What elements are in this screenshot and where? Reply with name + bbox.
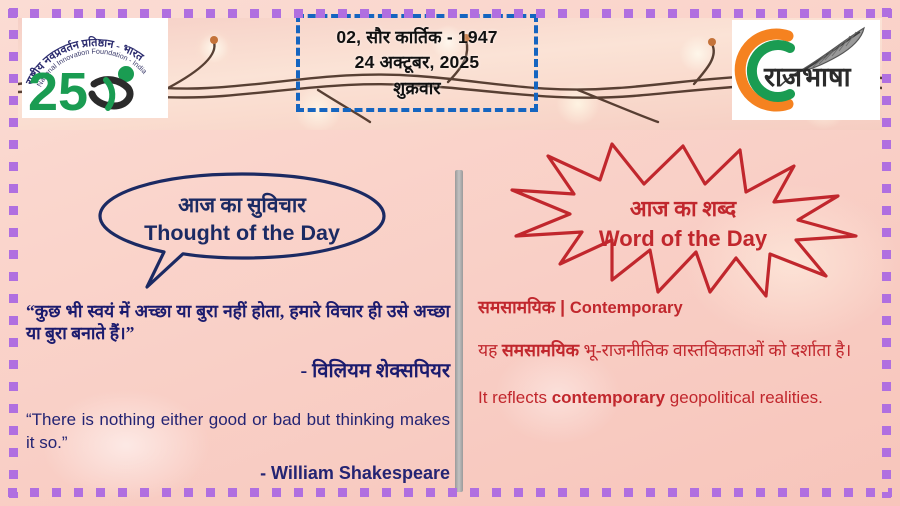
word-hindi: समसामयिक	[478, 297, 555, 317]
quote-author-hindi: - विलियम शेक्सपियर	[26, 356, 450, 383]
date-line-saka: 02, सौर कार्तिक - 1947	[336, 26, 497, 50]
star-title-english: Word of the Day	[599, 226, 768, 251]
thought-of-the-day-body: “कुछ भी स्वयं में अच्छा या बुरा नहीं होत…	[26, 300, 450, 484]
sentence-english: It reflects contemporary geopolitical re…	[478, 386, 870, 409]
star-title-hindi: आज का शब्द	[630, 196, 738, 221]
frame-left-dots	[9, 8, 18, 498]
word-of-the-day-starburst: आज का शब्द Word of the Day	[508, 140, 858, 300]
word-of-the-day-body: समसामयिक | Contemporary यह समसामयिक भू-र…	[478, 296, 870, 410]
word-headline: समसामयिक | Contemporary	[478, 296, 870, 319]
sentence-english-pre: It reflects	[478, 388, 552, 407]
quote-english: “There is nothing either good or bad but…	[26, 409, 450, 455]
sentence-hindi-bold: समसामयिक	[502, 340, 579, 360]
bubble-title-hindi: आज का सुविचार	[178, 192, 307, 219]
sentence-english-bold: contemporary	[552, 388, 665, 407]
sentence-hindi-pre: यह	[478, 340, 502, 360]
svg-text:25: 25	[28, 62, 88, 118]
frame-bottom-dots	[8, 488, 892, 497]
word-english: Contemporary	[570, 299, 683, 317]
date-box: 02, सौर कार्तिक - 1947 24 अक्टूबर, 2025 …	[296, 14, 538, 112]
sentence-hindi: यह समसामयिक भू-राजनीतिक वास्तविकताओं को …	[478, 339, 870, 362]
frame-right-dots	[882, 8, 891, 498]
sentence-hindi-post: भू-राजनीतिक वास्तविकताओं को दर्शाता है।	[579, 340, 851, 360]
quote-hindi: “कुछ भी स्वयं में अच्छा या बुरा नहीं होत…	[26, 300, 450, 345]
thought-of-the-day-bubble: आज का सुविचार Thought of the Day	[92, 168, 392, 296]
column-divider	[455, 170, 463, 492]
bubble-title-english: Thought of the Day	[144, 221, 340, 245]
word-separator: |	[555, 297, 570, 317]
rajbhasha-logo: राजभाषा	[732, 20, 880, 120]
national-innovation-foundation-logo: राष्ट्रीय नवप्रवर्तन प्रतिष्ठान - भारत N…	[22, 18, 168, 118]
date-line-weekday: शुक्रवार	[393, 77, 441, 101]
sentence-english-post: geopolitical realities.	[665, 388, 823, 407]
svg-text:राजभाषा: राजभाषा	[763, 62, 852, 92]
quote-author-english: - William Shakespeare	[26, 463, 450, 484]
date-line-gregorian: 24 अक्टूबर, 2025	[355, 51, 480, 75]
poster-canvas: राष्ट्रीय नवप्रवर्तन प्रतिष्ठान - भारत N…	[0, 0, 900, 506]
